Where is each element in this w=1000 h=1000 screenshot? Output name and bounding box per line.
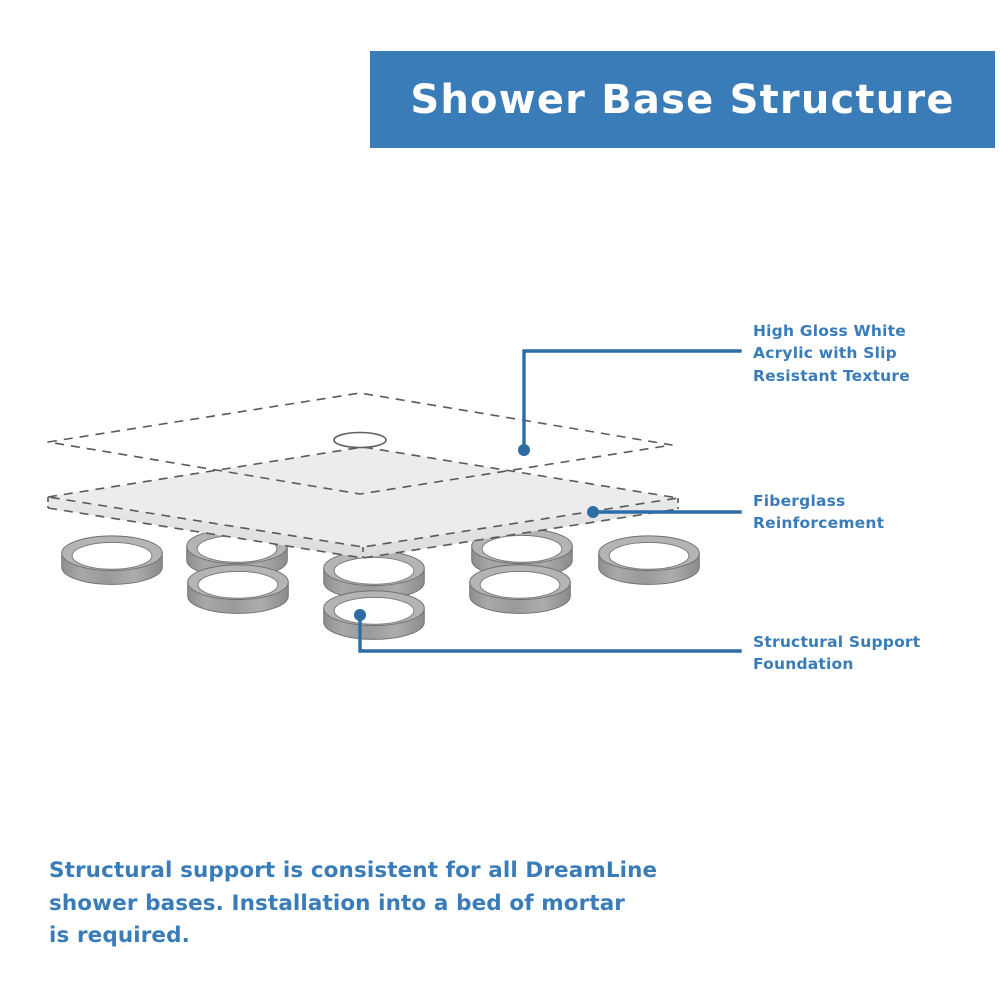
leader-line-acrylic [524,351,740,450]
leader-line-support [360,615,740,651]
fiberglass-reinforcement-panel [48,447,678,558]
title-banner: Shower Base Structure [370,51,995,148]
leader-dot-acrylic [518,444,530,456]
page-root: Shower Base Structure [0,0,1000,1000]
drain-opening [334,433,386,448]
support-ring [188,565,289,614]
support-ring-group-front [62,536,700,640]
acrylic-surface-panel [48,393,672,494]
support-ring [62,536,163,585]
support-ring [470,565,571,614]
callout-label-acrylic: High Gloss White Acrylic with Slip Resis… [753,320,910,387]
page-title: Shower Base Structure [410,77,954,123]
callout-label-structural-support: Structural Support Foundation [753,631,920,676]
callout-label-fiberglass: Fiberglass Reinforcement [753,490,884,535]
support-ring-group-back [187,529,573,600]
leader-lines [354,351,740,651]
support-ring [324,591,425,640]
support-ring [472,529,573,578]
support-ring [599,536,700,585]
leader-dot-support [354,609,366,621]
support-ring [187,529,288,578]
leader-dot-fiberglass [587,506,599,518]
support-ring [324,551,425,600]
footer-caption: Structural support is consistent for all… [49,855,689,953]
